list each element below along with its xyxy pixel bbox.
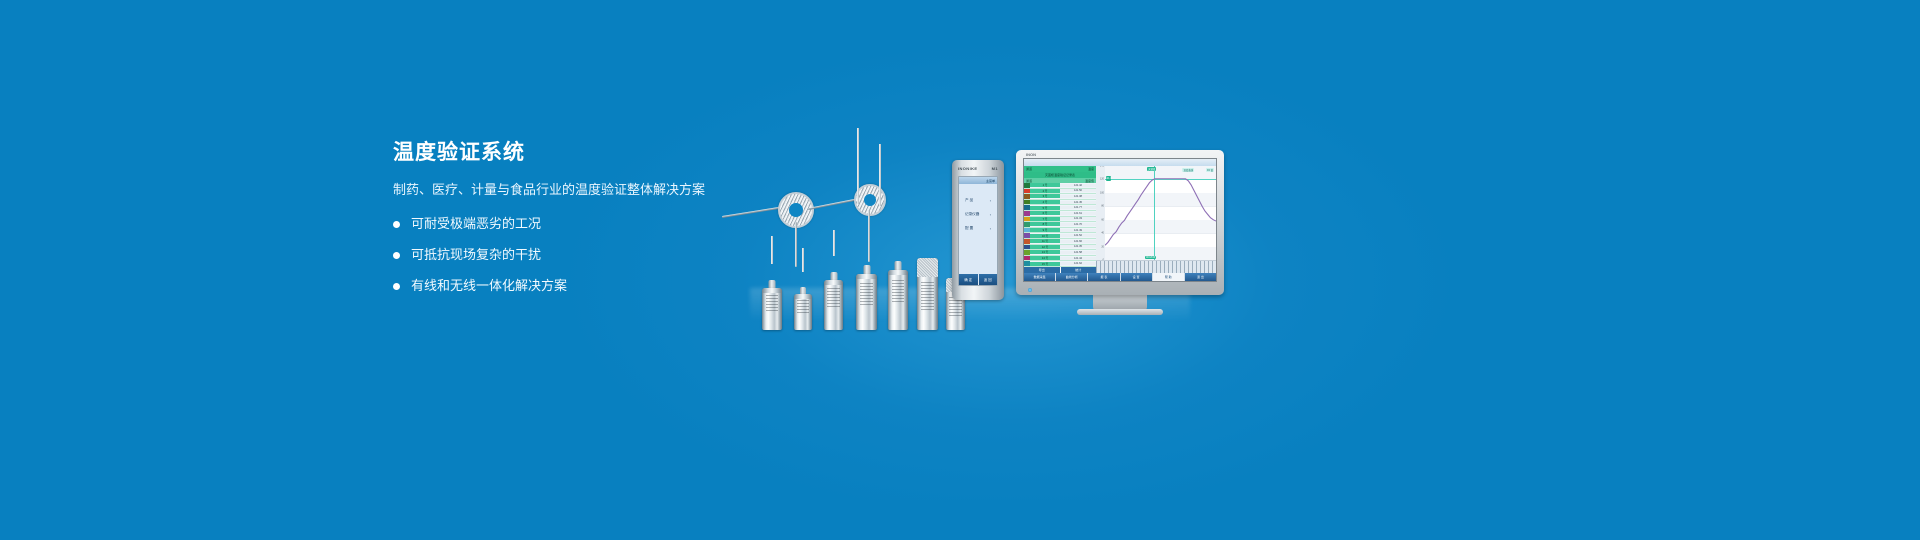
toolbar-button[interactable]: 设 置 <box>1121 273 1153 281</box>
logger-body <box>917 258 938 330</box>
logger-needle <box>833 230 835 256</box>
logger-neck <box>800 287 806 294</box>
temperature-chart-pane: 020406080100120140 灭菌段 00:18:00 121.0 温度… <box>1096 166 1216 273</box>
toolbar-button[interactable]: 帮 助 <box>1153 273 1185 281</box>
device-screen-title: 主菜单 <box>986 179 995 183</box>
menu-item[interactable]: 配 置 › <box>963 226 993 231</box>
chart-plot-area[interactable]: 灭菌段 00:18:00 121.0 温度曲线 F0 值 <box>1105 166 1216 260</box>
y-axis-tick-label: 40 <box>1101 232 1104 235</box>
bullet-dot-icon <box>393 252 400 259</box>
app-body: 通道 温度 灭菌柜温度验证记录表 通道 温度值 1 号121.422 号121.… <box>1024 166 1216 273</box>
device-brand-label: INONIKE <box>958 166 977 171</box>
table-title-right: 温度 <box>1088 167 1094 171</box>
cell-value: 121.42 <box>1060 184 1096 187</box>
banner-root: 温度验证系统 制药、医疗、计量与食品行业的温度验证整体解决方案 可耐受极端恶劣的… <box>0 0 1920 540</box>
chevron-right-icon: › <box>990 227 991 231</box>
bullet-dot-icon <box>393 221 400 228</box>
cell-value: 121.44 <box>1060 257 1096 260</box>
softkey-confirm[interactable]: 确 定 <box>959 274 979 285</box>
timeline-ticks <box>1096 261 1216 273</box>
cell-channel: 6 号 <box>1030 211 1060 215</box>
logger-cap <box>824 280 843 285</box>
probe-stem <box>795 222 797 267</box>
logger-needle <box>802 248 804 272</box>
product-composition: INONIKE M1 主菜单 产 品 › 记录仪器 › <box>700 110 1220 330</box>
logger-neck <box>769 280 776 288</box>
app-toolbar[interactable]: 数据采集曲线分析报 表设 置帮 助退 出 <box>1024 273 1216 281</box>
cell-channel: 15 号 <box>1030 262 1060 266</box>
bullet-dot-icon <box>393 283 400 290</box>
cell-value: 121.70 <box>1060 223 1096 226</box>
menu-item[interactable]: 产 品 › <box>963 198 993 203</box>
cell-channel: 11 号 <box>1030 239 1060 243</box>
y-axis-tick-label: 20 <box>1101 245 1104 248</box>
table-body[interactable]: 1 号121.422 号121.503 号121.384 号121.455 号1… <box>1024 183 1096 267</box>
coil-inner <box>789 203 803 217</box>
chart-wrap: 020406080100120140 灭菌段 00:18:00 121.0 温度… <box>1096 166 1216 260</box>
cell-value: 121.38 <box>1060 195 1096 198</box>
y-axis-tick-label: 120 <box>1100 178 1104 181</box>
cell-value: 121.49 <box>1060 229 1096 232</box>
cell-channel: 14 号 <box>1030 256 1060 260</box>
logger-cap <box>762 288 782 293</box>
long-needle-probe-2 <box>879 144 881 206</box>
data-logger-2 <box>794 272 812 330</box>
app-titlebar <box>1024 159 1216 166</box>
cell-value: 121.45 <box>1060 201 1096 204</box>
channel-table[interactable]: 通道 温度 灭菌柜温度验证记录表 通道 温度值 1 号121.422 号121.… <box>1024 166 1096 273</box>
cell-value: 121.62 <box>1060 262 1096 265</box>
temperature-curve <box>1105 166 1216 260</box>
feature-label: 有线和无线一体化解决方案 <box>411 277 567 295</box>
cell-channel: 4 号 <box>1030 200 1060 204</box>
feature-label: 可抵抗现场复杂的干扰 <box>411 246 541 264</box>
logger-body <box>856 274 877 330</box>
chart-y-axis: 020406080100120140 <box>1096 166 1105 260</box>
y-axis-tick-label: 100 <box>1100 191 1104 194</box>
data-logger-1 <box>762 264 782 330</box>
monitor-base <box>1077 309 1163 315</box>
column-header-channel: 通道 <box>1026 179 1032 183</box>
logger-engraved-label <box>921 282 934 311</box>
menu-item[interactable]: 记录仪器 › <box>963 212 993 217</box>
logger-cap <box>888 270 908 275</box>
cell-value: 121.50 <box>1060 189 1096 192</box>
cell-value: 121.66 <box>1060 240 1096 243</box>
device-softkey-bar: 确 定 返 回 <box>959 274 997 285</box>
menu-item-label: 配 置 <box>965 226 973 231</box>
long-needle-probe-1 <box>857 128 859 204</box>
coil-inner <box>864 194 876 206</box>
logger-cap <box>794 294 812 299</box>
power-led-icon <box>1028 288 1032 292</box>
cell-channel: 12 号 <box>1030 245 1060 249</box>
softkey-back[interactable]: 返 回 <box>979 274 998 285</box>
cell-value: 121.58 <box>1060 251 1096 254</box>
cell-value: 121.52 <box>1060 234 1096 237</box>
data-logger-4 <box>856 246 877 330</box>
chevron-right-icon: › <box>990 199 991 203</box>
toolbar-button[interactable]: 退 出 <box>1185 273 1216 281</box>
logger-body <box>824 280 843 330</box>
logger-cap <box>856 274 877 279</box>
device-menu[interactable]: 产 品 › 记录仪器 › 配 置 › <box>959 184 997 231</box>
logger-needle <box>771 236 773 264</box>
cell-channel: 2 号 <box>1030 189 1060 193</box>
device-screen[interactable]: 主菜单 产 品 › 记录仪器 › 配 置 › <box>958 176 998 286</box>
cell-channel: 10 号 <box>1030 234 1060 238</box>
column-header-value: 温度值 <box>1085 179 1094 183</box>
device-model-label: M1 <box>992 166 998 171</box>
cell-value: 121.61 <box>1060 212 1096 215</box>
logger-engraved-label <box>797 300 809 314</box>
probe-wire <box>808 198 859 210</box>
cell-channel: 7 号 <box>1030 217 1060 221</box>
toolbar-button[interactable]: 报 表 <box>1088 273 1120 281</box>
chart-timeline-scrollbar[interactable] <box>1096 260 1216 273</box>
chevron-right-icon: › <box>990 213 991 217</box>
cell-value: 121.35 <box>1060 245 1096 248</box>
logger-engraved-label <box>892 280 905 304</box>
monitor-brand-label: INON <box>1026 152 1036 157</box>
y-axis-tick-label: 80 <box>1101 205 1104 208</box>
logger-neck <box>895 261 902 270</box>
handheld-reader-device[interactable]: INONIKE M1 主菜单 产 品 › 记录仪器 › <box>952 160 1004 300</box>
software-screen: 通道 温度 灭菌柜温度验证记录表 通道 温度值 1 号121.422 号121.… <box>1023 158 1217 282</box>
logger-neck <box>830 272 837 280</box>
cell-value: 121.77 <box>1060 206 1096 209</box>
cell-channel: 13 号 <box>1030 250 1060 254</box>
cell-channel: 9 号 <box>1030 228 1060 232</box>
cell-channel: 8 号 <box>1030 222 1060 226</box>
toolbar-button[interactable]: 曲线分析 <box>1056 273 1088 281</box>
cell-value: 121.33 <box>1060 217 1096 220</box>
menu-item-label: 产 品 <box>965 198 973 203</box>
logger-engraved-label <box>766 295 779 312</box>
device-branding: INONIKE M1 <box>952 166 1004 171</box>
cell-channel: 1 号 <box>1030 183 1060 187</box>
cell-channel: 3 号 <box>1030 194 1060 198</box>
monitor-display: INON 通道 温度 灭菌柜温度验证记录表 通道 <box>1016 150 1224 295</box>
data-logger-5 <box>888 242 908 330</box>
logger-mesh-cap <box>917 258 938 277</box>
data-logger-3 <box>824 256 843 330</box>
logger-body <box>888 270 908 330</box>
cell-channel: 5 号 <box>1030 206 1060 210</box>
y-axis-tick-label: 140 <box>1100 166 1104 168</box>
menu-item-label: 记录仪器 <box>965 212 979 217</box>
probe-wire <box>722 207 782 218</box>
logger-engraved-label <box>860 283 873 305</box>
logger-body <box>762 288 782 330</box>
y-axis-tick-label: 60 <box>1101 218 1104 221</box>
table-title-left: 通道 <box>1026 167 1032 171</box>
feature-label: 可耐受极端恶劣的工况 <box>411 215 541 233</box>
data-logger-6 <box>917 250 938 330</box>
toolbar-button[interactable]: 数据采集 <box>1024 273 1056 281</box>
monitor-bezel: INON 通道 温度 灭菌柜温度验证记录表 通道 <box>1016 150 1224 295</box>
logger-engraved-label <box>827 288 839 308</box>
device-titlebar: 主菜单 <box>959 177 997 184</box>
logger-body <box>794 294 812 330</box>
logger-neck <box>863 265 870 274</box>
